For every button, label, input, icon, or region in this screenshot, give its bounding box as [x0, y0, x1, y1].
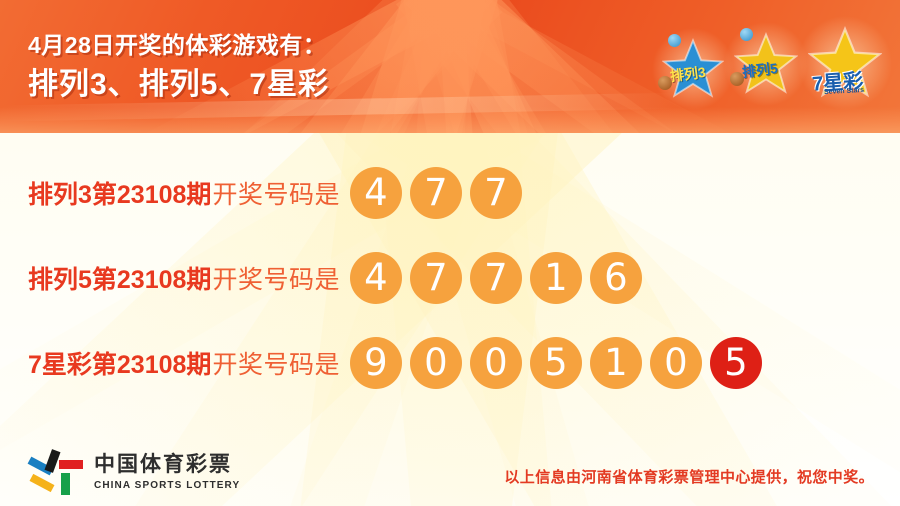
winning-number-ball: 7 [410, 252, 462, 304]
footer-note: 以上信息由河南省体育彩票管理中心提供，祝您中奖。 [504, 466, 874, 487]
winning-numbers: 9005105 [350, 337, 770, 389]
decorative-ball-icon [740, 28, 753, 41]
result-row: 排列5第23108期开奖号码是47716 [0, 235, 900, 320]
result-row-label: 排列5第23108期 [28, 260, 211, 296]
result-row: 排列3第23108期开奖号码是477 [0, 150, 900, 235]
winning-number-special: 5 [710, 337, 762, 389]
brand-name-cn: 中国体育彩票 [94, 453, 240, 476]
winning-number-ball: 0 [470, 337, 522, 389]
result-row-suffix: 开奖号码是 [212, 345, 340, 381]
winning-number-ball: 7 [410, 167, 462, 219]
result-row: 7星彩第23108期开奖号码是9005105 [0, 320, 900, 405]
result-row-suffix: 开奖号码是 [212, 175, 340, 211]
brand-name-en: CHINA SPORTS LOTTERY [94, 480, 240, 491]
pailie3-logo: 排列3 [662, 38, 724, 100]
decorative-ball-icon [658, 76, 672, 90]
winning-number-ball: 4 [350, 167, 402, 219]
qixingcai-logo: 7星彩Seven Stars [808, 26, 882, 100]
winning-number-ball: 1 [530, 252, 582, 304]
pailie5-logo: 排列5 [734, 32, 798, 96]
winning-number-ball: 7 [470, 252, 522, 304]
decorative-ball-icon [668, 34, 681, 47]
winning-number-ball: 4 [350, 252, 402, 304]
results-list: 排列3第23108期开奖号码是477排列5第23108期开奖号码是477167星… [0, 150, 900, 405]
header-bottom-fade [0, 107, 900, 133]
lottery-result-banner: 4月28日开奖的体彩游戏有： 排列3、排列5、7星彩 排列3排列57星彩Seve… [0, 0, 900, 506]
winning-numbers: 47716 [350, 252, 650, 304]
header-line-2: 排列3、排列5、7星彩 [28, 65, 329, 105]
winning-numbers: 477 [350, 167, 530, 219]
winning-number-ball: 0 [410, 337, 462, 389]
winning-number-ball: 5 [530, 337, 582, 389]
winning-number-ball: 0 [650, 337, 702, 389]
winning-number-ball: 1 [590, 337, 642, 389]
decorative-ball-icon [730, 72, 744, 86]
footer: 中国体育彩票 CHINA SPORTS LOTTERY 以上信息由河南省体育彩票… [0, 440, 900, 506]
result-row-suffix: 开奖号码是 [212, 260, 340, 296]
china-sports-lottery-logo-icon [28, 448, 84, 496]
header-text: 4月28日开奖的体彩游戏有： 排列3、排列5、7星彩 [28, 31, 329, 104]
game-logos: 排列3排列57星彩Seven Stars [662, 24, 892, 108]
brand-lockup: 中国体育彩票 CHINA SPORTS LOTTERY [28, 448, 240, 496]
result-row-label: 7星彩第23108期 [28, 345, 211, 381]
winning-number-ball: 9 [350, 337, 402, 389]
winning-number-ball: 7 [470, 167, 522, 219]
winning-number-ball: 6 [590, 252, 642, 304]
header-banner: 4月28日开奖的体彩游戏有： 排列3、排列5、7星彩 排列3排列57星彩Seve… [0, 0, 900, 133]
brand-text: 中国体育彩票 CHINA SPORTS LOTTERY [94, 453, 240, 490]
result-row-label: 排列3第23108期 [28, 175, 211, 211]
header-line-1: 4月28日开奖的体彩游戏有： [28, 31, 329, 60]
